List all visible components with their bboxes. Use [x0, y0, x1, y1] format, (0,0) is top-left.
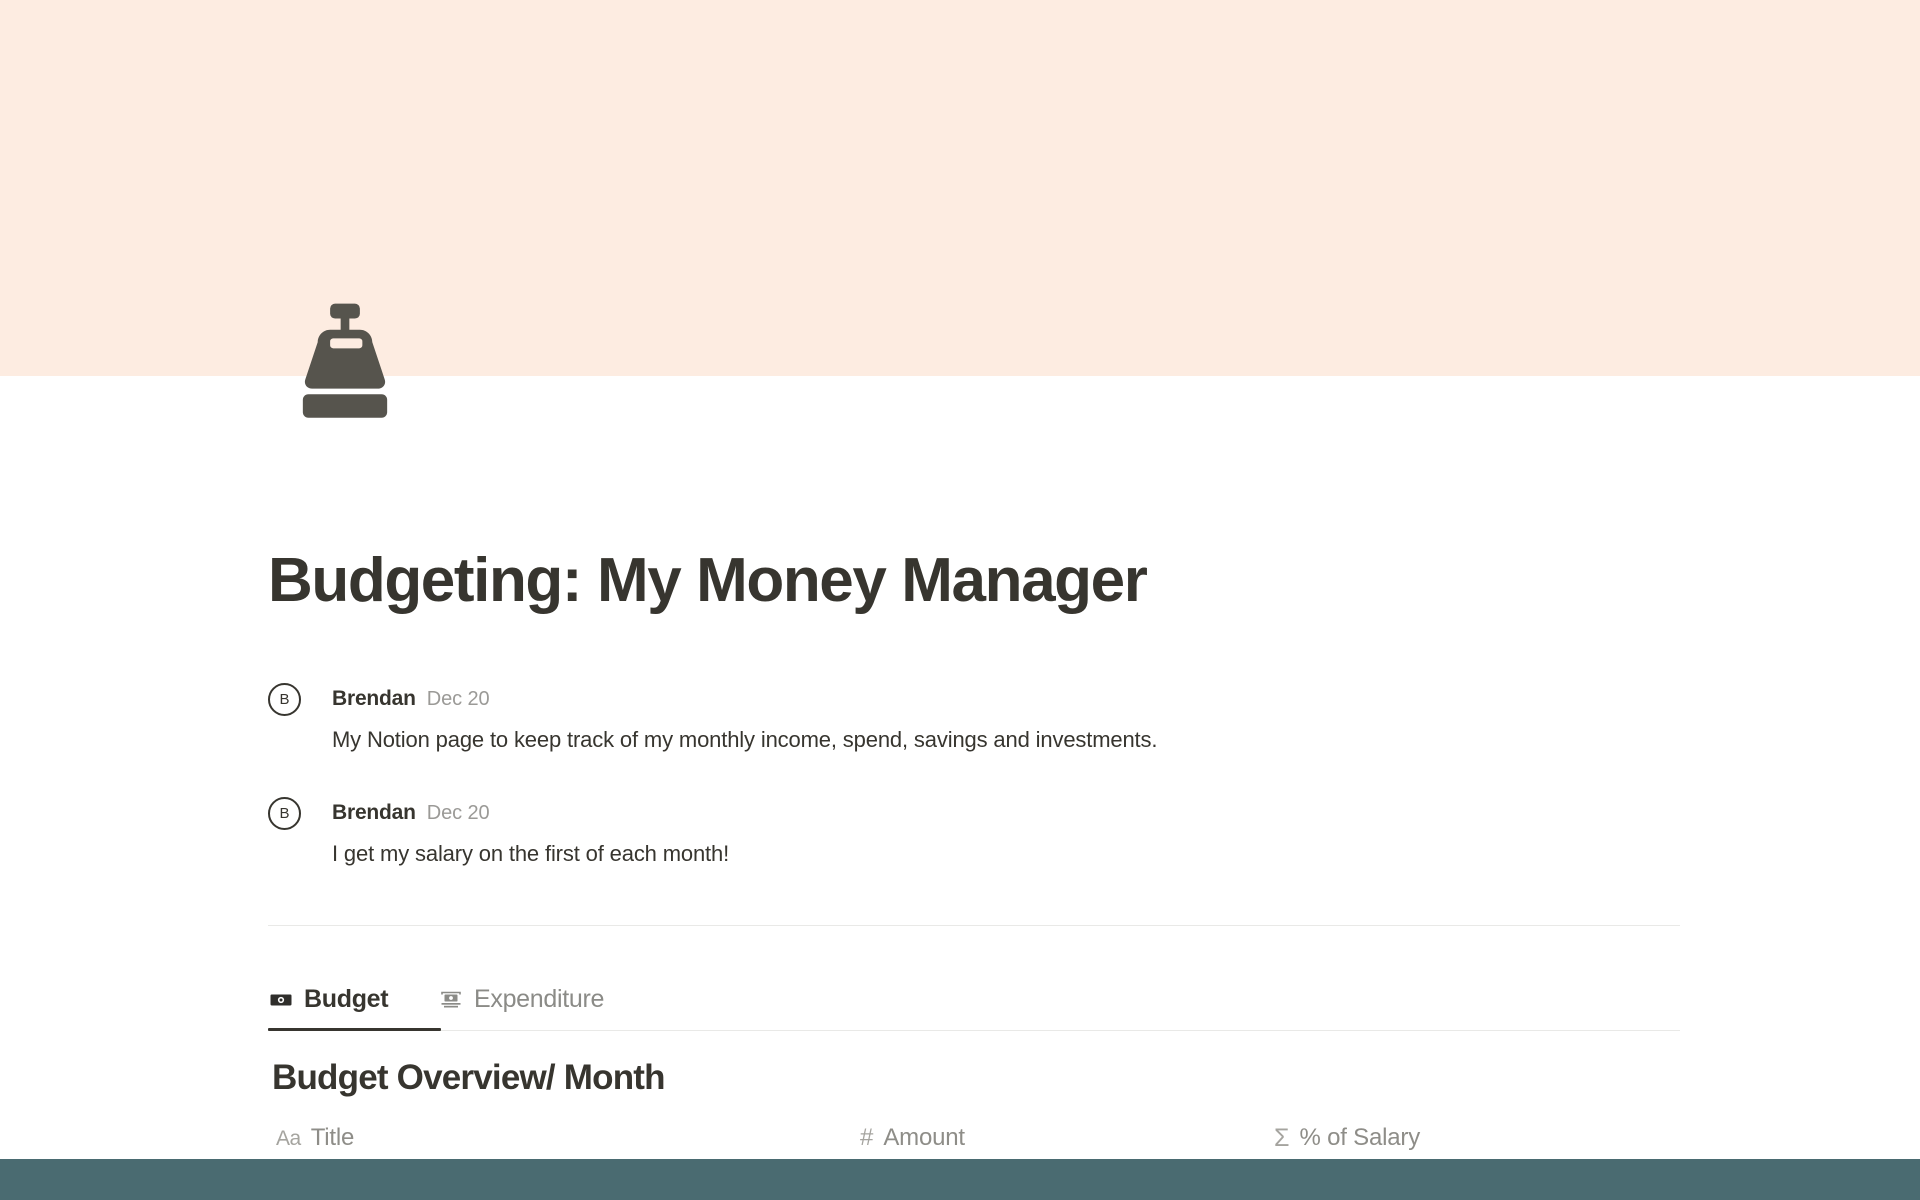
tab-budget[interactable]: Budget — [268, 968, 388, 1031]
avatar[interactable]: B — [268, 683, 301, 716]
table-header-row: Aa Title # Amount Σ % of Salary — [268, 1118, 1680, 1158]
comment-date: Dec 20 — [427, 688, 490, 711]
bottom-status-bar — [0, 1159, 1920, 1200]
divider — [268, 925, 1680, 926]
formula-property-icon: Σ — [1274, 1126, 1289, 1151]
comment-item[interactable]: B Brendan Dec 20 My Notion page to keep … — [268, 682, 1680, 755]
page-title[interactable]: Budgeting: My Money Manager — [268, 543, 1146, 619]
avatar[interactable]: B — [268, 797, 301, 830]
column-header-amount[interactable]: # Amount — [860, 1118, 965, 1158]
tab-bar: Budget Expenditure — [268, 968, 1680, 1031]
tab-budget-label: Budget — [304, 985, 388, 1014]
tab-expenditure-label: Expenditure — [474, 985, 604, 1014]
money-dispense-icon — [438, 987, 464, 1013]
comment-date: Dec 20 — [427, 802, 490, 825]
text-property-icon: Aa — [276, 1128, 301, 1149]
comment-item[interactable]: B Brendan Dec 20 I get my salary on the … — [268, 796, 1680, 869]
column-header-amount-label: Amount — [883, 1124, 965, 1152]
banknote-icon — [268, 987, 294, 1013]
column-header-percent-of-salary[interactable]: Σ % of Salary — [1274, 1118, 1420, 1158]
tab-expenditure[interactable]: Expenditure — [438, 968, 604, 1031]
comment-header: B Brendan Dec 20 — [268, 796, 1680, 830]
cash-register-icon[interactable] — [283, 295, 407, 419]
number-property-icon: # — [860, 1126, 873, 1150]
column-header-percent-of-salary-label: % of Salary — [1299, 1124, 1420, 1152]
comment-header: B Brendan Dec 20 — [268, 682, 1680, 716]
comment-author: Brendan — [332, 687, 416, 711]
tab-active-indicator — [268, 1028, 441, 1031]
column-header-title[interactable]: Aa Title — [276, 1118, 354, 1158]
database-title[interactable]: Budget Overview/ Month — [272, 1058, 665, 1098]
page-root: Budgeting: My Money Manager B Brendan De… — [0, 0, 1920, 1200]
comment-text[interactable]: My Notion page to keep track of my month… — [332, 725, 1680, 755]
comment-author: Brendan — [332, 801, 416, 825]
comment-text[interactable]: I get my salary on the first of each mon… — [332, 839, 1680, 869]
column-header-title-label: Title — [311, 1124, 354, 1152]
